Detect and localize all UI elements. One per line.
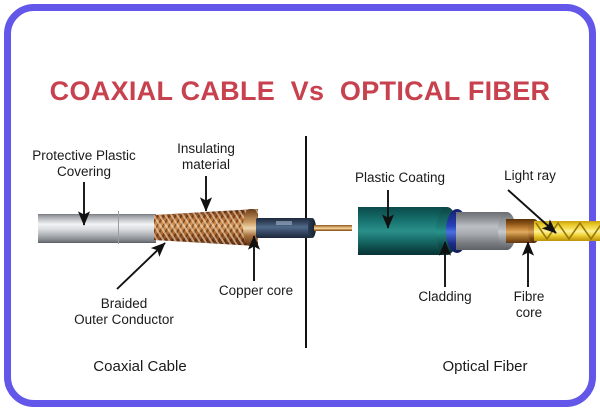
coax-jacket-seam <box>118 211 119 244</box>
label-protective-plastic-covering: Protective Plastic Covering <box>16 148 152 180</box>
label-insulating-material: Insulating material <box>163 141 249 173</box>
coax-copper-conductor <box>314 225 352 231</box>
coaxial-cable-illustration <box>38 205 288 253</box>
vertical-divider <box>305 136 307 348</box>
label-copper-core: Copper core <box>208 283 304 299</box>
coax-dielectric-highlight <box>276 221 292 225</box>
label-light-ray: Light ray <box>484 168 576 184</box>
fiber-plastic-coating <box>358 207 446 255</box>
caption-optical-fiber: Optical Fiber <box>385 358 585 375</box>
diagram-canvas: COAXIAL CABLE Vs OPTICAL FIBER Protectiv… <box>0 0 600 411</box>
coax-outer-jacket <box>38 214 156 243</box>
label-cladding: Cladding <box>400 289 490 305</box>
caption-coaxial-cable: Coaxial Cable <box>40 358 240 375</box>
label-plastic-coating: Plastic Coating <box>336 170 464 186</box>
light-ray-zigzag-icon <box>534 221 600 241</box>
optical-fiber-illustration <box>358 203 568 259</box>
page-title: COAXIAL CABLE Vs OPTICAL FIBER <box>0 76 600 107</box>
label-fibre-core: Fibre core <box>500 289 558 321</box>
label-braided-outer-conductor: Braided Outer Conductor <box>58 296 190 328</box>
